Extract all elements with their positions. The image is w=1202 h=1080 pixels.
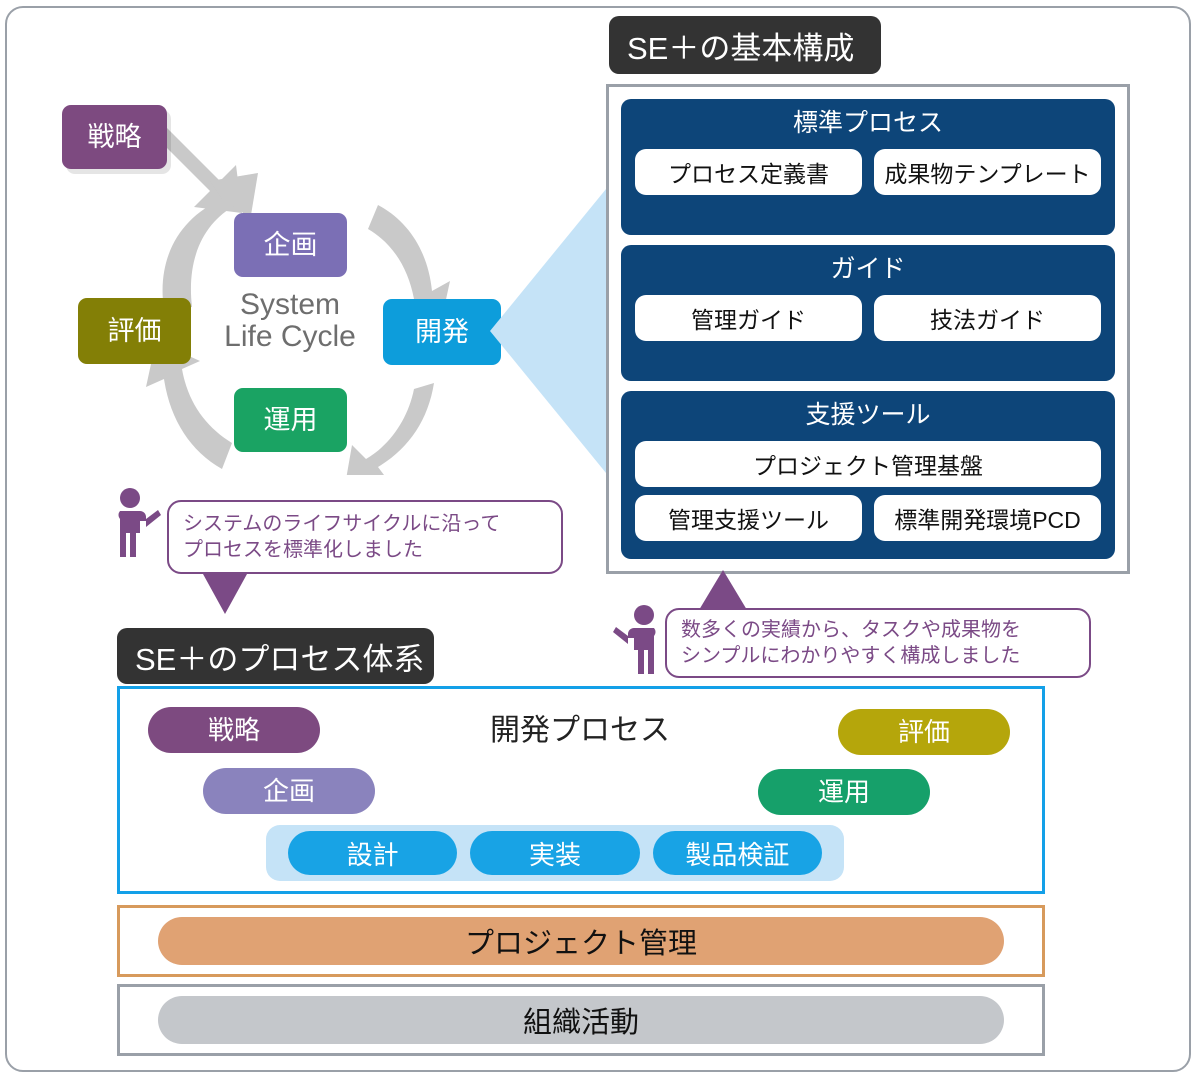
cycle-node-operation-label: 運用 [264,407,318,434]
kihon-group-standard-process-row-0: プロセス定義書 成果物テンプレート [635,149,1101,195]
cycle-node-strategy-label: 戦略 [88,124,142,151]
cycle-node-plan[interactable]: 企画 [234,213,347,277]
panel-title-process-label: SE＋のプロセス体系 [135,634,424,679]
person-icon [612,604,664,682]
process-development-band: 設計 実装 製品検証 [266,825,844,881]
kihon-chip-management-support-tool[interactable]: 管理支援ツール [635,495,862,541]
cycle-node-operation[interactable]: 運用 [234,388,347,452]
cycle-center-line1: System [214,289,366,321]
kihon-group-support-tools: 支援ツール プロジェクト管理基盤 管理支援ツール 標準開発環境PCD [621,391,1115,559]
process-chip-design[interactable]: 設計 [288,831,457,875]
callout-track-record-line1: 数多くの実績から、タスクや成果物を [681,617,1021,643]
process-pill-plan[interactable]: 企画 [203,768,375,814]
kihon-group-guide-row-0: 管理ガイド 技法ガイド [635,295,1101,341]
process-pill-strategy[interactable]: 戦略 [148,707,320,753]
panel-title-process: SE＋のプロセス体系 [117,628,434,684]
organization-activity-band[interactable]: 組織活動 [158,996,1004,1044]
cycle-node-evaluation[interactable]: 評価 [78,298,191,364]
cycle-center-caption: System Life Cycle [214,281,366,361]
kihon-chip-process-definition[interactable]: プロセス定義書 [635,149,862,195]
process-pill-plan-label: 企画 [263,778,315,804]
callout-lifecycle: システムのライフサイクルに沿って プロセスを標準化しました [167,500,563,574]
process-pill-operation-label: 運用 [818,779,870,805]
callout-tail-down-icon [197,572,253,616]
panel-title-kihon-label: SE＋の基本構成 [627,23,854,68]
kihon-group-standard-process: 標準プロセス プロセス定義書 成果物テンプレート [621,99,1115,235]
kihon-chip-pm-platform[interactable]: プロジェクト管理基盤 [635,441,1101,487]
process-chip-implementation[interactable]: 実装 [470,831,639,875]
process-development-title: 開発プロセス [455,705,705,749]
kihon-group-support-tools-row-0: プロジェクト管理基盤 [635,441,1101,487]
cycle-node-evaluation-label: 評価 [108,318,162,345]
kihon-group-support-tools-title: 支援ツール [635,398,1101,433]
kihon-group-support-tools-row-1: 管理支援ツール 標準開発環境PCD [635,495,1101,541]
process-chip-product-verification[interactable]: 製品検証 [653,831,822,875]
kihon-chip-standard-dev-env-pcd[interactable]: 標準開発環境PCD [874,495,1101,541]
process-pill-strategy-label: 戦略 [208,717,260,743]
kihon-chip-deliverable-template[interactable]: 成果物テンプレート [874,149,1101,195]
callout-tail-up-icon [695,570,751,612]
kihon-chip-management-guide[interactable]: 管理ガイド [635,295,862,341]
project-management-band[interactable]: プロジェクト管理 [158,917,1004,965]
person-icon [110,487,162,565]
cycle-node-development[interactable]: 開発 [383,299,501,365]
callout-track-record: 数多くの実績から、タスクや成果物を シンプルにわかりやすく構成しました [665,608,1091,678]
kihon-group-guide: ガイド 管理ガイド 技法ガイド [621,245,1115,381]
process-pill-evaluation[interactable]: 評価 [838,709,1010,755]
process-pill-operation[interactable]: 運用 [758,769,930,815]
kihon-group-standard-process-title: 標準プロセス [635,106,1101,141]
cycle-node-strategy[interactable]: 戦略 [62,105,167,169]
cycle-node-development-label: 開発 [415,319,469,346]
panel-title-kihon: SE＋の基本構成 [609,16,881,74]
diagram-canvas: 戦略 企画 開発 運用 評価 System Life Cycle SE＋の基本構… [0,0,1202,1080]
cycle-node-plan-label: 企画 [264,232,318,259]
connector-wedge-icon [490,178,615,484]
callout-lifecycle-line2: プロセスを標準化しました [183,537,500,563]
panel-kihon: 標準プロセス プロセス定義書 成果物テンプレート ガイド 管理ガイド 技法ガイド… [606,84,1130,574]
process-pill-evaluation-label: 評価 [898,719,950,745]
kihon-group-guide-title: ガイド [635,252,1101,287]
callout-lifecycle-line1: システムのライフサイクルに沿って [183,511,500,537]
callout-track-record-line2: シンプルにわかりやすく構成しました [681,643,1021,669]
kihon-chip-technique-guide[interactable]: 技法ガイド [874,295,1101,341]
cycle-center-line2: Life Cycle [214,321,366,353]
